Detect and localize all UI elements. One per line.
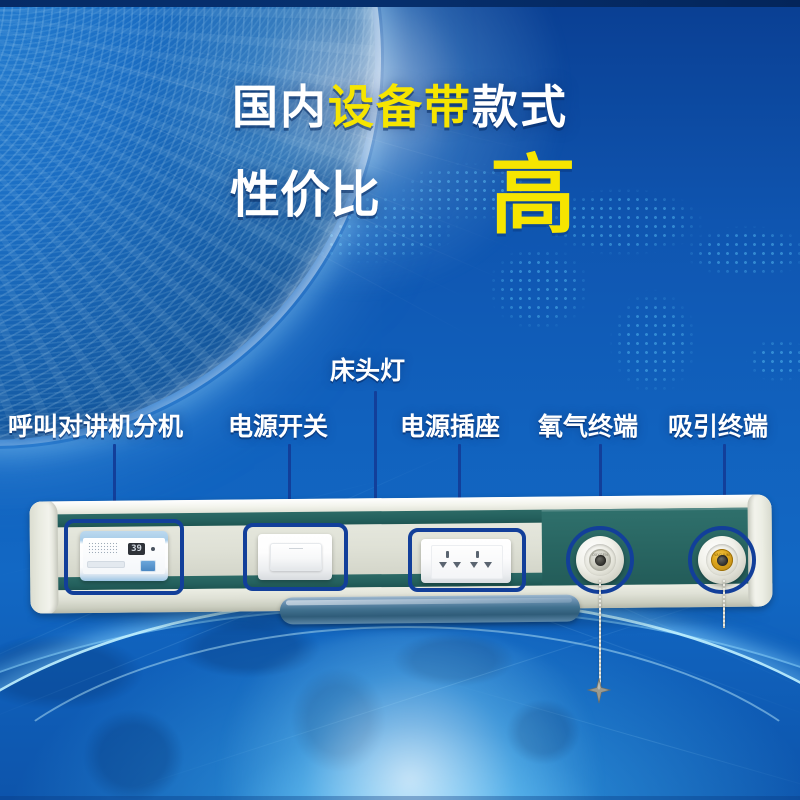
pull-cord-suction[interactable] <box>723 580 725 628</box>
callout-suction[interactable]: 吸引终端 <box>668 415 768 440</box>
pull-cord-oxygen[interactable] <box>599 580 601 690</box>
banner-stage: 国内设备带款式 性价比 高 呼叫对讲机分机 电源开关 床头灯 电源插座 氧气 <box>0 0 800 800</box>
callout-power-socket[interactable]: 电源插座 <box>400 415 500 440</box>
callout-oxygen[interactable]: 氧气终端 <box>538 415 638 440</box>
highlight-circle-suction <box>688 526 756 594</box>
panel-service-rail <box>280 595 580 625</box>
callout-label-bed-lamp: 床头灯 <box>330 359 405 384</box>
callout-power-switch[interactable]: 电源开关 <box>228 415 328 440</box>
highlight-box-power-socket <box>408 528 526 592</box>
callout-bed-lamp[interactable]: 床头灯 <box>330 359 405 384</box>
callout-label-intercom: 呼叫对讲机分机 <box>8 415 183 440</box>
callout-label-power-switch: 电源开关 <box>228 415 328 440</box>
callout-label-power-socket: 电源插座 <box>400 415 500 440</box>
highlight-box-intercom <box>64 519 184 595</box>
callout-intercom[interactable]: 呼叫对讲机分机 <box>8 415 183 440</box>
callout-label-oxygen: 氧气终端 <box>538 415 638 440</box>
panel-end-cap-left <box>29 499 58 613</box>
highlight-box-power-switch <box>243 523 348 591</box>
callout-layer: 呼叫对讲机分机 电源开关 床头灯 电源插座 氧气终端 吸引终端 <box>0 0 800 800</box>
pull-cord-weight-icon <box>586 678 612 704</box>
callout-label-suction: 吸引终端 <box>668 415 768 440</box>
bottom-edge-band <box>0 796 800 800</box>
